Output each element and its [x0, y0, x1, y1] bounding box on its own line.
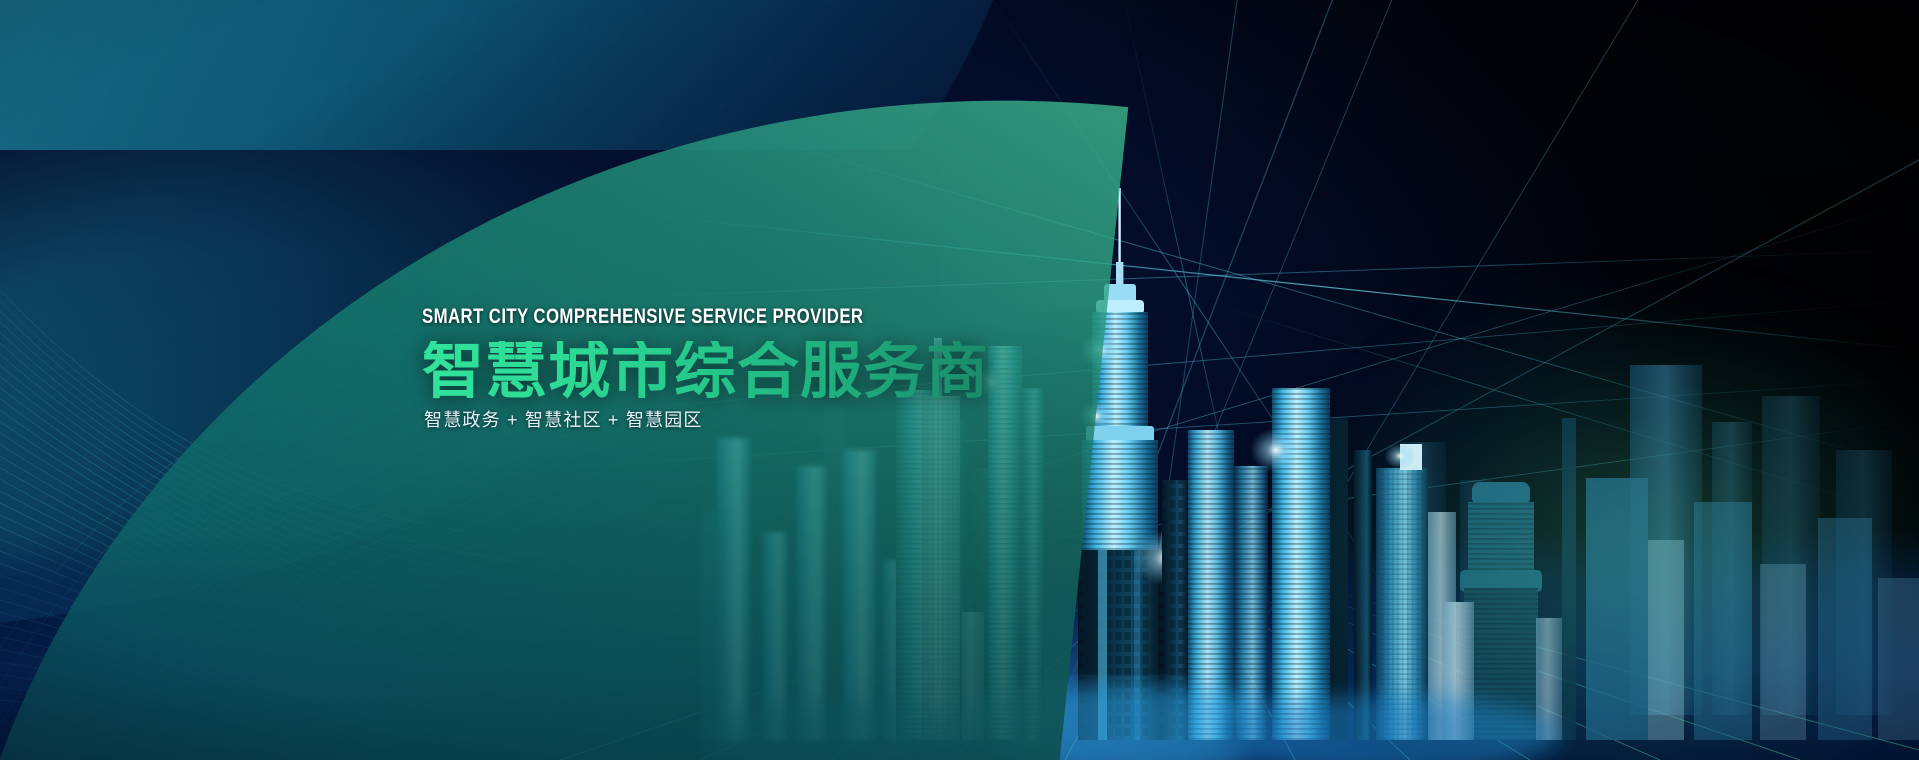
hero-eyebrow-text: SMART CITY COMPREHENSIVE SERVICE PROVIDE… — [422, 306, 998, 327]
hero-subtitle: 智慧政务 + 智慧社区 + 智慧园区 — [424, 411, 1142, 429]
hero-text-block: SMART CITY COMPREHENSIVE SERVICE PROVIDE… — [422, 306, 1142, 429]
smart-city-hero-banner: SMART CITY COMPREHENSIVE SERVICE PROVIDE… — [0, 0, 1919, 760]
hero-title: 智慧城市综合服务商 — [422, 341, 1142, 403]
